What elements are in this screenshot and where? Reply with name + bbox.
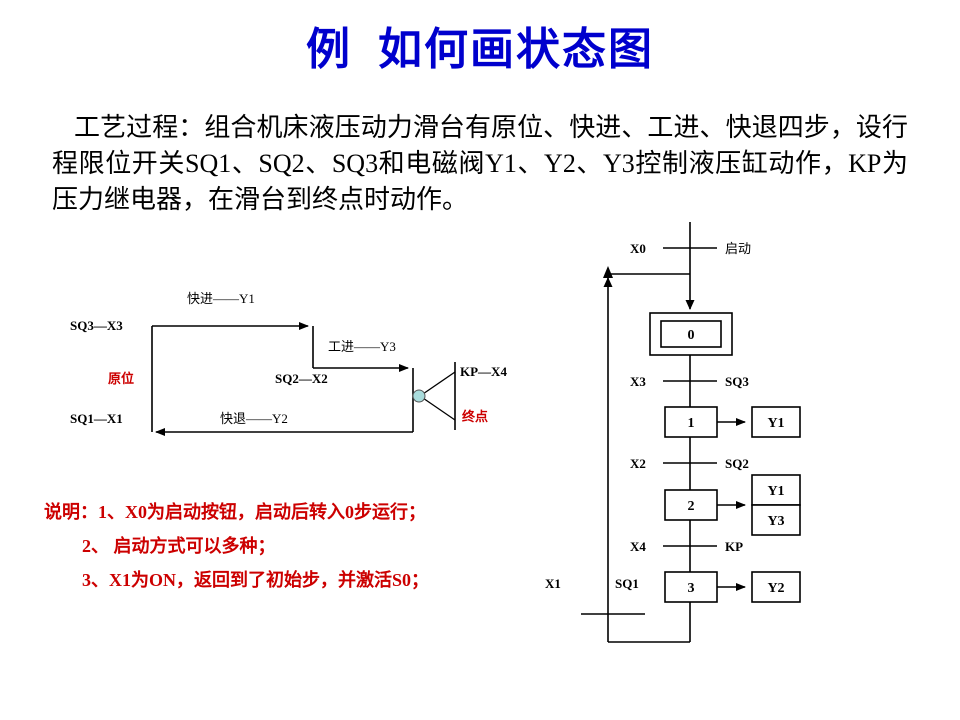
note-line-1: 说明：1、X0为启动按钮，启动后转入0步运行； <box>44 495 544 529</box>
transition-x3-right-label: SQ3 <box>725 374 749 389</box>
transition-x4-left-label: X4 <box>630 539 646 554</box>
transition-start-left-label: X0 <box>630 241 646 256</box>
state-transition-diagram: X0 启动 0 X3 SQ3 1 Y1 X2 SQ2 2 Y1 Y3 <box>545 222 945 652</box>
endpoint-fork-upper <box>420 372 455 396</box>
step-1-label: 1 <box>688 416 695 431</box>
step-0-label: 0 <box>688 328 695 343</box>
step-1-action-label: Y1 <box>767 416 784 431</box>
slide-canvas: 例 如何画状态图 工艺过程：组合机床液压动力滑台有原位、快进、工进、快退四步，设… <box>0 0 960 720</box>
label-work-forward: 工进——Y3 <box>328 339 396 354</box>
label-fast-forward: 快进——Y1 <box>187 291 255 306</box>
transition-start-right-label: 启动 <box>725 241 751 256</box>
transition-x1-left-label: X1 <box>545 576 561 591</box>
notes-block: 说明：1、X0为启动按钮，启动后转入0步运行； 2、 启动方式可以多种； 3、X… <box>44 495 544 597</box>
label-sq3-x3: SQ3—X3 <box>70 318 123 333</box>
endpoint-fork-lower <box>420 396 455 420</box>
endpoint-pressure-marker <box>413 390 425 402</box>
return-arrow-head <box>603 266 613 278</box>
label-sq2-x2: SQ2—X2 <box>275 371 328 386</box>
step-3-action-label: Y2 <box>767 581 784 596</box>
note-line-3: 3、X1为ON，返回到了初始步，并激活S0； <box>44 563 544 597</box>
page-title: 例 如何画状态图 <box>0 24 960 76</box>
label-kp-x4: KP—X4 <box>460 364 507 379</box>
step-2-label: 2 <box>688 499 695 514</box>
transition-x3-left-label: X3 <box>630 374 646 389</box>
label-sq1-x1: SQ1—X1 <box>70 411 123 426</box>
note-line-2: 2、 启动方式可以多种； <box>44 529 544 563</box>
transition-x2-left-label: X2 <box>630 456 646 471</box>
transition-x4-right-label: KP <box>725 539 743 554</box>
process-flow-diagram: SQ3—X3 SQ1—X1 快进——Y1 工进——Y3 快退——Y2 SQ2—X… <box>70 278 540 458</box>
process-description-text: 工艺过程：组合机床液压动力滑台有原位、快进、工进、快退四步，设行程限位开关SQ1… <box>52 110 908 218</box>
label-fast-retract: 快退——Y2 <box>220 411 288 426</box>
step-2-action-label-1: Y1 <box>767 484 784 499</box>
step-3-label: 3 <box>688 581 695 596</box>
transition-x1-right-label: SQ1 <box>615 576 639 591</box>
label-home-position: 原位 <box>108 371 134 386</box>
label-end-point: 终点 <box>462 409 488 424</box>
step-2-action-label-2: Y3 <box>767 514 784 529</box>
transition-x2-right-label: SQ2 <box>725 456 749 471</box>
